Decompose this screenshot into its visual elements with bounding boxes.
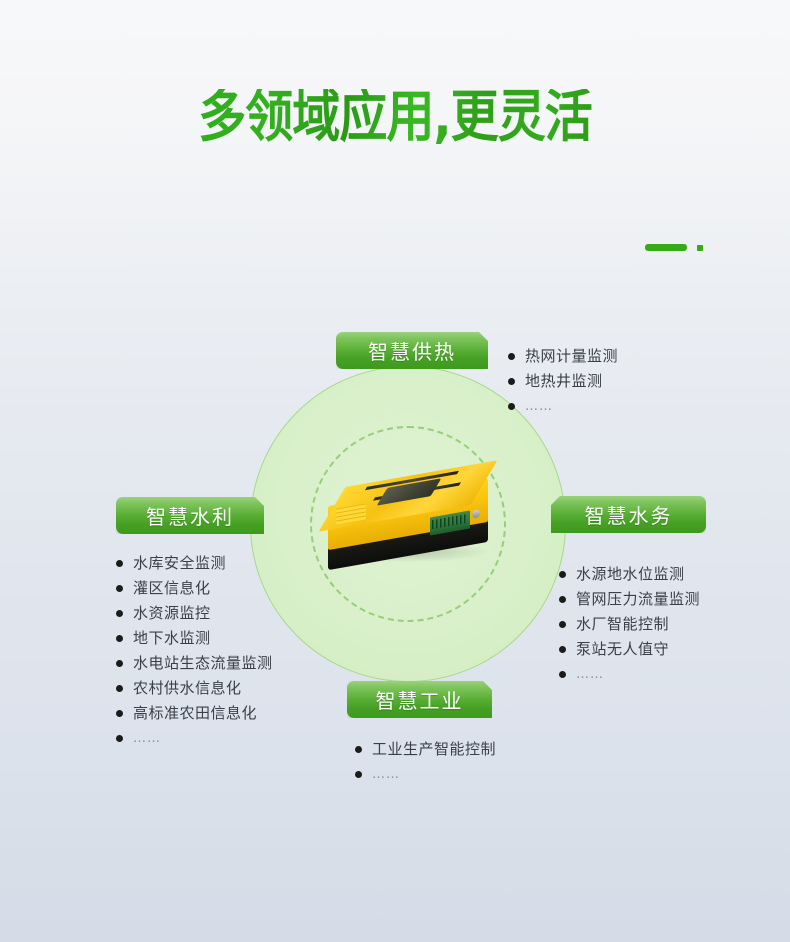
green-dash-icon	[645, 244, 687, 251]
list-item-label: 地下水监测	[133, 626, 211, 651]
bullet-icon	[116, 610, 123, 617]
badge-smart-water-conservancy[interactable]: 智慧水利	[116, 497, 264, 534]
bullet-icon	[559, 621, 566, 628]
list-item: 水库安全监测	[116, 551, 273, 576]
bullet-icon	[116, 685, 123, 692]
list-item-label: 泵站无人值守	[576, 637, 669, 662]
bullet-icon	[116, 585, 123, 592]
bullet-icon	[116, 660, 123, 667]
list-item-label: ……	[576, 662, 604, 687]
list-item-label: 热网计量监测	[525, 344, 618, 369]
list-item: 水资源监控	[116, 601, 273, 626]
badge-smart-industry[interactable]: 智慧工业	[347, 681, 492, 718]
list-smart-heating: 热网计量监测 地热井监测 ……	[508, 344, 618, 419]
list-item-label: ……	[372, 762, 400, 787]
list-smart-industry: 工业生产智能控制 ……	[355, 737, 496, 787]
badge-smart-water-affairs[interactable]: 智慧水务	[551, 496, 706, 533]
list-item-label: 工业生产智能控制	[372, 737, 496, 762]
bullet-icon	[116, 735, 123, 742]
bullet-icon	[559, 671, 566, 678]
list-item: 地下水监测	[116, 626, 273, 651]
list-item: ……	[508, 394, 618, 419]
bullet-icon	[116, 560, 123, 567]
list-smart-water-conservancy: 水库安全监测 灌区信息化 水资源监控 地下水监测 水电站生态流量监测 农村供水信…	[116, 551, 273, 751]
list-item: 工业生产智能控制	[355, 737, 496, 762]
bullet-icon	[355, 771, 362, 778]
list-item: 水电站生态流量监测	[116, 651, 273, 676]
list-item-label: 水电站生态流量监测	[133, 651, 273, 676]
bullet-icon	[508, 403, 515, 410]
page-title-container: 多领域应用,更灵活	[0, 92, 790, 142]
page-title: 多领域应用,更灵活	[198, 89, 592, 145]
list-smart-water-affairs: 水源地水位监测 管网压力流量监测 水厂智能控制 泵站无人值守 ……	[559, 562, 700, 687]
list-item-label: 水厂智能控制	[576, 612, 669, 637]
list-item-label: 水库安全监测	[133, 551, 226, 576]
list-item: 管网压力流量监测	[559, 587, 700, 612]
list-item: 灌区信息化	[116, 576, 273, 601]
bullet-icon	[116, 710, 123, 717]
bullet-icon	[508, 353, 515, 360]
list-item: ……	[355, 762, 496, 787]
list-item: ……	[559, 662, 700, 687]
list-item-label: 灌区信息化	[133, 576, 211, 601]
bullet-icon	[559, 596, 566, 603]
list-item: 高标准农田信息化	[116, 701, 273, 726]
bullet-icon	[355, 746, 362, 753]
list-item: 地热井监测	[508, 369, 618, 394]
list-item-label: ……	[133, 726, 161, 751]
list-item: 热网计量监测	[508, 344, 618, 369]
list-item: 水源地水位监测	[559, 562, 700, 587]
list-item-label: 地热井监测	[525, 369, 603, 394]
list-item: 泵站无人值守	[559, 637, 700, 662]
list-item-label: 高标准农田信息化	[133, 701, 257, 726]
rtu-device-image	[322, 470, 498, 574]
green-square-dot-icon	[697, 245, 703, 251]
list-item-label: 水源地水位监测	[576, 562, 685, 587]
bullet-icon	[508, 378, 515, 385]
list-item-label: 水资源监控	[133, 601, 211, 626]
badge-smart-heating[interactable]: 智慧供热	[336, 332, 488, 369]
list-item-label: 农村供水信息化	[133, 676, 242, 701]
list-item: 水厂智能控制	[559, 612, 700, 637]
list-item: ……	[116, 726, 273, 751]
list-item-label: 管网压力流量监测	[576, 587, 700, 612]
page-root: 多领域应用,更灵活 智慧供热 智慧水利 智慧水务 智慧工业 热网计量监测 地热井…	[0, 0, 790, 942]
bullet-icon	[559, 571, 566, 578]
bullet-icon	[116, 635, 123, 642]
list-item-label: ……	[525, 394, 553, 419]
list-item: 农村供水信息化	[116, 676, 273, 701]
bullet-icon	[559, 646, 566, 653]
